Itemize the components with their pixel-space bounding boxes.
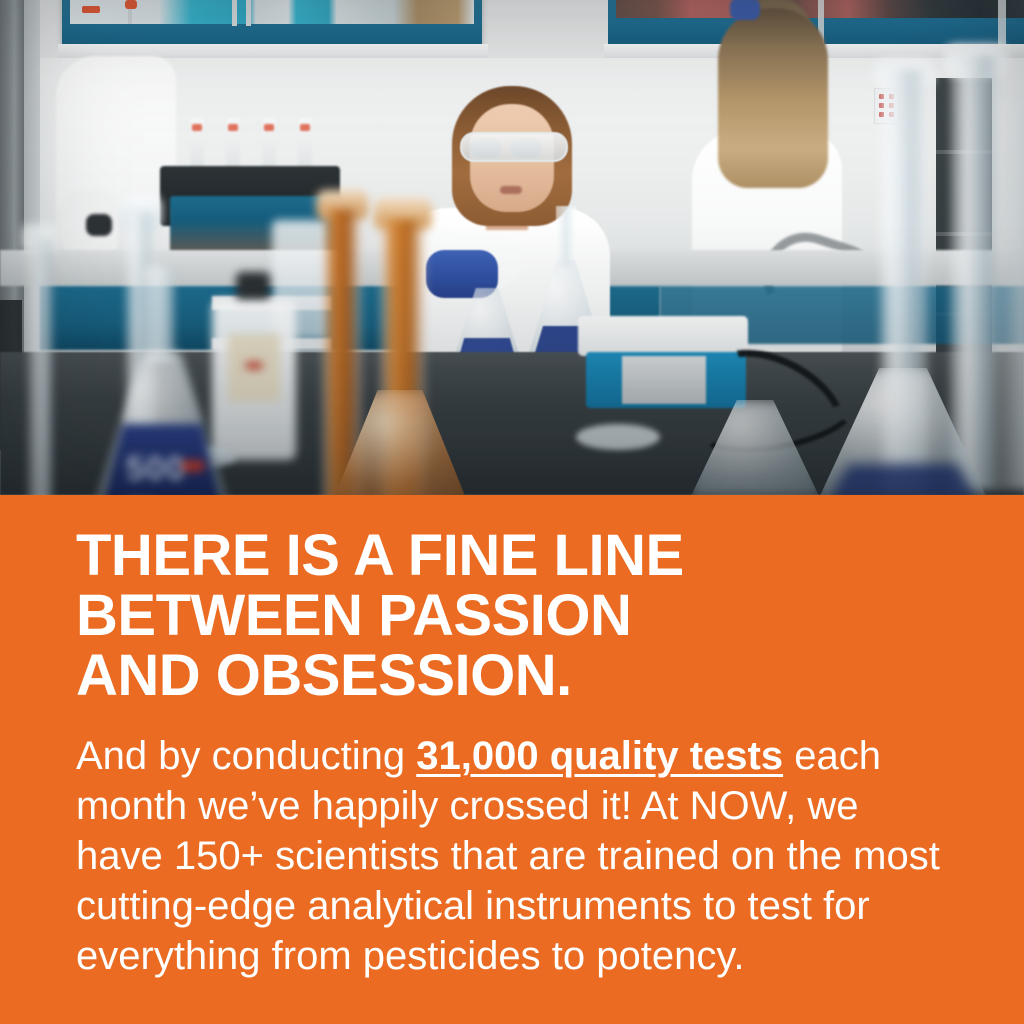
- erlenmeyer-flask-small: [452, 268, 522, 364]
- glass-column-2: [950, 56, 1002, 490]
- burette-far-left: [28, 240, 52, 495]
- center-scientist-mouth: [500, 186, 522, 194]
- cabinet-divider: [998, 0, 1006, 44]
- lab-equipment-white-top: [578, 316, 748, 356]
- cabinet-divider: [246, 0, 251, 26]
- laboratory-photo: 500: [0, 0, 1024, 495]
- volumetric-flask-500ml: 500: [96, 352, 228, 495]
- body-text-before: And by conducting: [76, 734, 416, 778]
- test-tube-rack: [186, 118, 326, 172]
- headline-line-1: THERE IS A FINE LINE: [76, 526, 976, 586]
- safety-goggles: [460, 132, 568, 162]
- supply-box-label: [82, 6, 100, 13]
- cabinet-divider: [232, 0, 237, 26]
- background-person-left-hand: [86, 214, 112, 236]
- promotional-poster: 500 THERE IS A FINE LINE BETWEEN PASSION…: [0, 0, 1024, 1024]
- lab-equipment-grey-panel: [622, 356, 706, 404]
- headline-line-2: BETWEEN PASSION: [76, 586, 976, 646]
- body-paragraph: And by conducting 31,000 quality tests e…: [76, 731, 946, 981]
- petri-dish: [576, 424, 660, 450]
- orange-text-panel: THERE IS A FINE LINE BETWEEN PASSION AND…: [0, 495, 1024, 1024]
- headline-line-3: AND OBSESSION.: [76, 646, 976, 706]
- supply-box-label: [125, 0, 137, 9]
- highlight-statistic: 31,000 quality tests: [416, 734, 783, 778]
- page-title: THERE IS A FINE LINE BETWEEN PASSION AND…: [76, 526, 976, 706]
- glass-column-3: [1000, 100, 1024, 490]
- blue-nitrile-glove-second: [730, 0, 760, 20]
- pump-bottle-warning-mark: [246, 362, 262, 369]
- background-scientist-hair: [718, 8, 828, 188]
